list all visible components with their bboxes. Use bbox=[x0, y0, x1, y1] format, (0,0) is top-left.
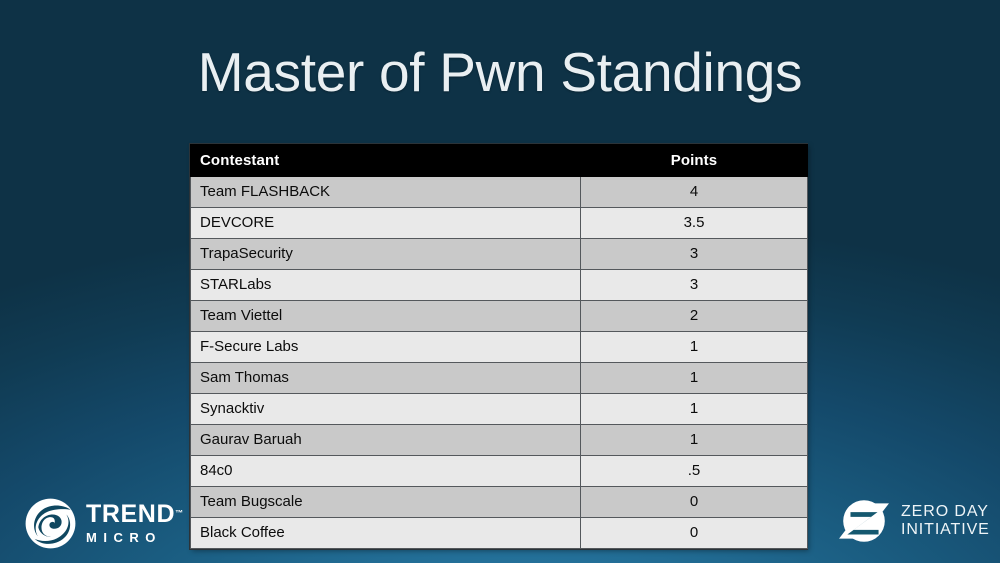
cell-contestant: Team Viettel bbox=[191, 301, 581, 332]
column-header-contestant: Contestant bbox=[191, 145, 581, 177]
cell-points: 1 bbox=[581, 332, 808, 363]
cell-points: 3.5 bbox=[581, 208, 808, 239]
zdi-z-circle-icon bbox=[838, 495, 890, 547]
page-title: Master of Pwn Standings bbox=[0, 44, 1000, 102]
slide-canvas: Master of Pwn Standings Contestant Point… bbox=[0, 0, 1000, 563]
table-row: Sam Thomas1 bbox=[191, 363, 808, 394]
cell-contestant: Black Coffee bbox=[191, 518, 581, 549]
standings-table-container: Contestant Points Team FLASHBACK4DEVCORE… bbox=[190, 144, 807, 549]
cell-points: 0 bbox=[581, 518, 808, 549]
cell-contestant: Sam Thomas bbox=[191, 363, 581, 394]
table-row: TrapaSecurity3 bbox=[191, 239, 808, 270]
trend-micro-word-trend: TREND bbox=[86, 502, 175, 527]
cell-contestant: 84c0 bbox=[191, 456, 581, 487]
cell-contestant: TrapaSecurity bbox=[191, 239, 581, 270]
table-row: Team Viettel2 bbox=[191, 301, 808, 332]
zdi-line-zero-day: ZERO DAY bbox=[901, 503, 990, 521]
table-row: Team FLASHBACK4 bbox=[191, 177, 808, 208]
table-row: Team Bugscale0 bbox=[191, 487, 808, 518]
cell-points: 1 bbox=[581, 425, 808, 456]
trend-micro-word-micro: MICRO bbox=[86, 531, 183, 544]
cell-contestant: F-Secure Labs bbox=[191, 332, 581, 363]
zdi-wordmark: ZERO DAY INITIATIVE bbox=[901, 503, 990, 539]
cell-points: 1 bbox=[581, 363, 808, 394]
table-row: DEVCORE3.5 bbox=[191, 208, 808, 239]
cell-points: 0 bbox=[581, 487, 808, 518]
cell-points: 3 bbox=[581, 270, 808, 301]
cell-points: .5 bbox=[581, 456, 808, 487]
trend-micro-wordmark: TREND™ MICRO bbox=[86, 502, 183, 546]
standings-table: Contestant Points Team FLASHBACK4DEVCORE… bbox=[190, 144, 808, 549]
table-header-row: Contestant Points bbox=[191, 145, 808, 177]
column-header-points: Points bbox=[581, 145, 808, 177]
table-row: 84c0.5 bbox=[191, 456, 808, 487]
table-row: Gaurav Baruah1 bbox=[191, 425, 808, 456]
cell-points: 3 bbox=[581, 239, 808, 270]
cell-contestant: STARLabs bbox=[191, 270, 581, 301]
zero-day-initiative-logo: ZERO DAY INITIATIVE bbox=[838, 495, 990, 547]
cell-points: 1 bbox=[581, 394, 808, 425]
table-row: STARLabs3 bbox=[191, 270, 808, 301]
table-row: Black Coffee0 bbox=[191, 518, 808, 549]
table-row: Synacktiv1 bbox=[191, 394, 808, 425]
zdi-line-initiative: INITIATIVE bbox=[901, 521, 990, 539]
table-body: Team FLASHBACK4DEVCORE3.5TrapaSecurity3S… bbox=[191, 177, 808, 549]
cell-contestant: Synacktiv bbox=[191, 394, 581, 425]
trend-micro-logo: TREND™ MICRO bbox=[24, 497, 183, 550]
table-row: F-Secure Labs1 bbox=[191, 332, 808, 363]
cell-contestant: DEVCORE bbox=[191, 208, 581, 239]
cell-points: 4 bbox=[581, 177, 808, 208]
trademark-symbol: ™ bbox=[175, 508, 183, 517]
cell-contestant: Team FLASHBACK bbox=[191, 177, 581, 208]
table-header: Contestant Points bbox=[191, 145, 808, 177]
cell-contestant: Team Bugscale bbox=[191, 487, 581, 518]
cell-contestant: Gaurav Baruah bbox=[191, 425, 581, 456]
cell-points: 2 bbox=[581, 301, 808, 332]
trend-micro-ball-icon bbox=[24, 497, 77, 550]
